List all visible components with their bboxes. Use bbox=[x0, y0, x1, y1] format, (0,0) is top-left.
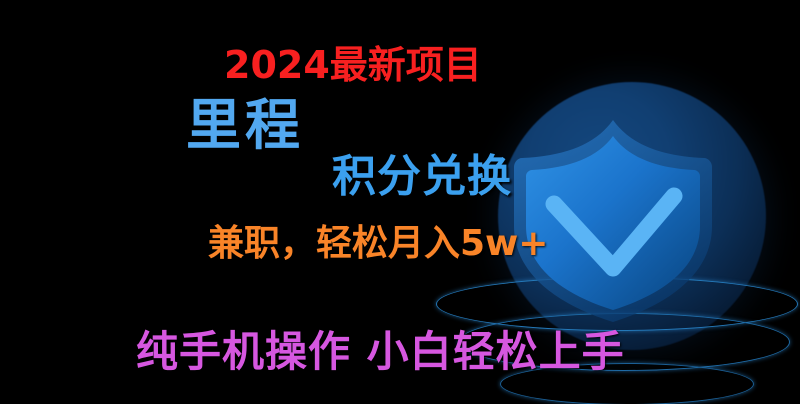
keyword-secondary-text: 积分兑换 bbox=[332, 155, 512, 199]
keyword-primary-text: 里程 bbox=[186, 98, 304, 153]
footer-text: 纯手机操作 小白轻松上手 bbox=[136, 331, 625, 373]
shield-check-icon bbox=[508, 118, 718, 324]
headline-text: 2024最新项目 bbox=[224, 46, 482, 84]
promo-poster: 2024最新项目 里程 积分兑换 兼职，轻松月入5w+ 纯手机操作 小白轻松上手 bbox=[0, 0, 800, 404]
subheadline-text: 兼职，轻松月入5w+ bbox=[208, 226, 548, 262]
